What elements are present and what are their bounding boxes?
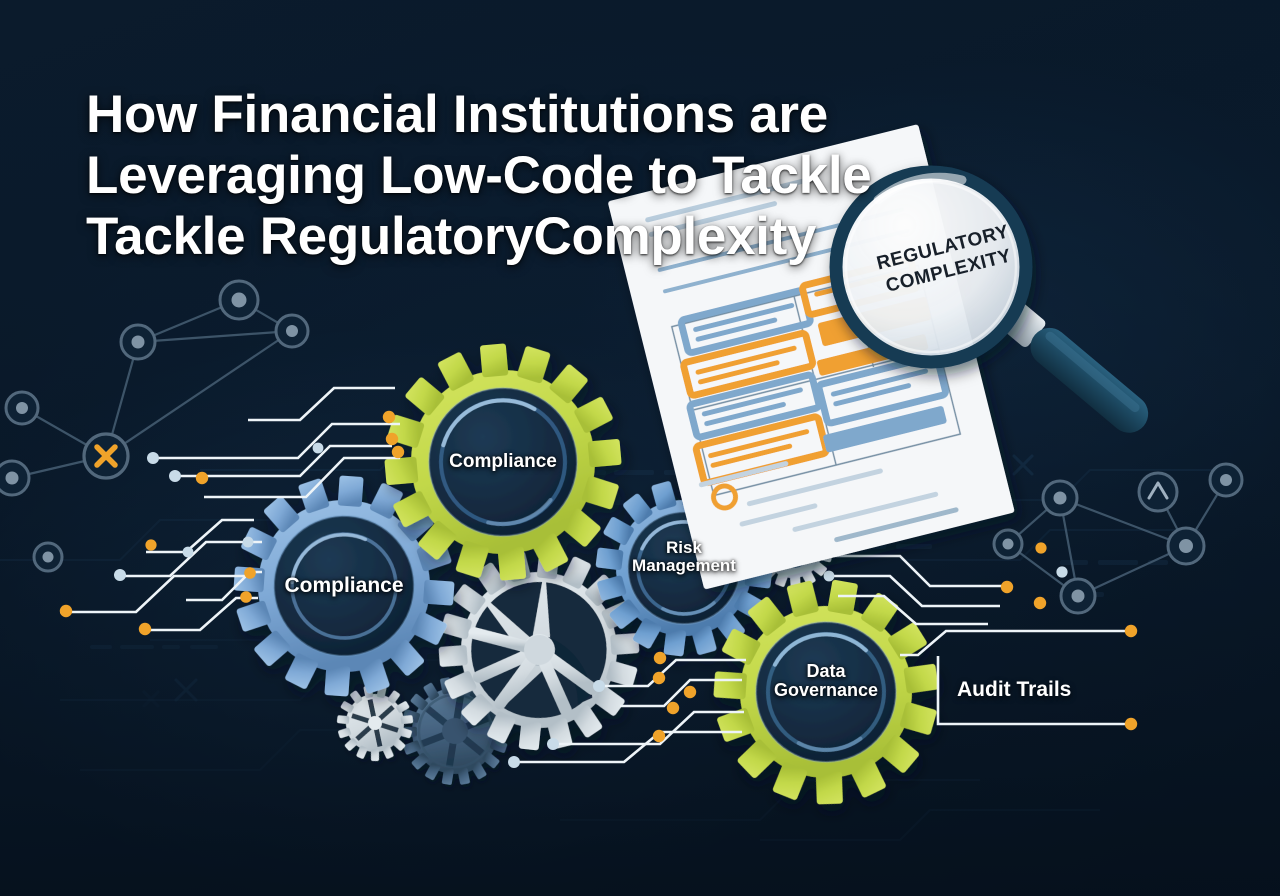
hero-illustration: REGULATORY COMPLEXITY How Financial Inst… [0, 0, 1280, 896]
magnifier-handle [998, 300, 1156, 441]
document-magnifier-layer [0, 0, 1280, 896]
magnifier-lens [836, 172, 1026, 362]
